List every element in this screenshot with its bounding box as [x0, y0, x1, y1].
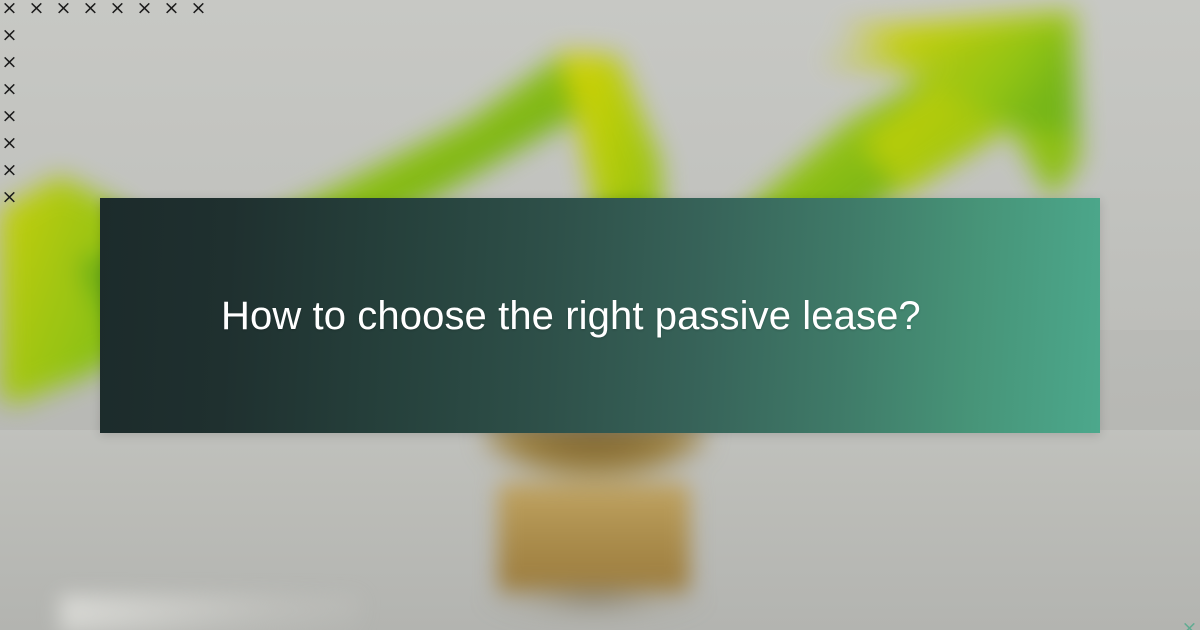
- decoration-x-mark: ×: [1, 27, 18, 44]
- decoration-x-mark: ×: [55, 0, 72, 17]
- decoration-x-mark: ×: [136, 0, 153, 17]
- coin-shadow: [480, 575, 708, 623]
- decoration-x-mark: ×: [1, 162, 18, 179]
- decoration-x-mark: ×: [1, 0, 18, 17]
- decoration-x-mark: ×: [1, 189, 18, 206]
- decoration-x-mark: ×: [1, 108, 18, 125]
- decoration-x-mark: ×: [163, 0, 180, 17]
- decoration-x-mark: ×: [1, 54, 18, 71]
- decoration-x-mark: ×: [1181, 620, 1198, 630]
- title-banner: How to choose the right passive lease?: [100, 198, 1100, 433]
- page-title: How to choose the right passive lease?: [100, 292, 985, 340]
- decoration-x-grid-bottom-right: ×××××××××××××××: [1181, 431, 1200, 630]
- paper-sheet: [60, 596, 360, 630]
- decoration-x-mark: ×: [82, 0, 99, 17]
- decoration-x-mark: ×: [1, 135, 18, 152]
- hero-card: ××××××××××××××× ××××××××××××××× How to c…: [0, 0, 1200, 630]
- coin-stack-graphic: [470, 425, 720, 630]
- decoration-x-mark: ×: [109, 0, 126, 17]
- decoration-x-grid-top-left: ×××××××××××××××: [1, 0, 217, 216]
- decoration-x-mark: ×: [190, 0, 207, 17]
- decoration-x-mark: ×: [28, 0, 45, 17]
- decoration-x-mark: ×: [1, 81, 18, 98]
